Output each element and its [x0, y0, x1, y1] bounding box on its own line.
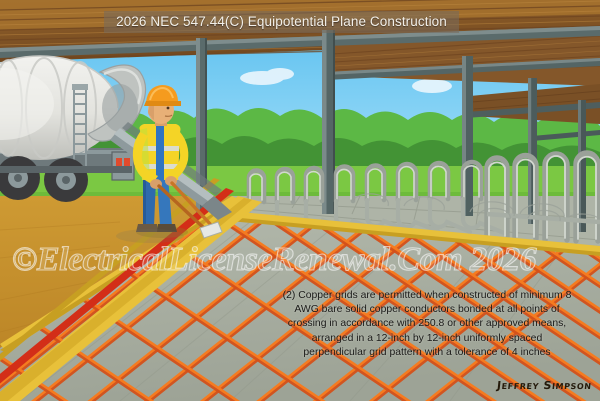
caption-line-1: (2) Copper grids are permitted when cons…: [258, 289, 596, 303]
page-title: 2026 NEC 547.44(C) Equipotential Plane C…: [104, 11, 459, 33]
caption-line-4: arranged in a 12-inch by 12-inch uniform…: [258, 332, 596, 346]
artist-signature: Jeffrey Simpson: [496, 379, 592, 392]
caption-block: (2) Copper grids are permitted when cons…: [258, 289, 596, 360]
illustration-scene: 2026 NEC 547.44(C) Equipotential Plane C…: [0, 0, 600, 401]
caption-line-2: AWG bare solid copper conductors bonded …: [258, 303, 596, 317]
caption-line-5: perpendicular grid pattern with a tolera…: [258, 346, 596, 360]
caption-line-3: crossing in accordance with 250.8 or oth…: [258, 317, 596, 331]
